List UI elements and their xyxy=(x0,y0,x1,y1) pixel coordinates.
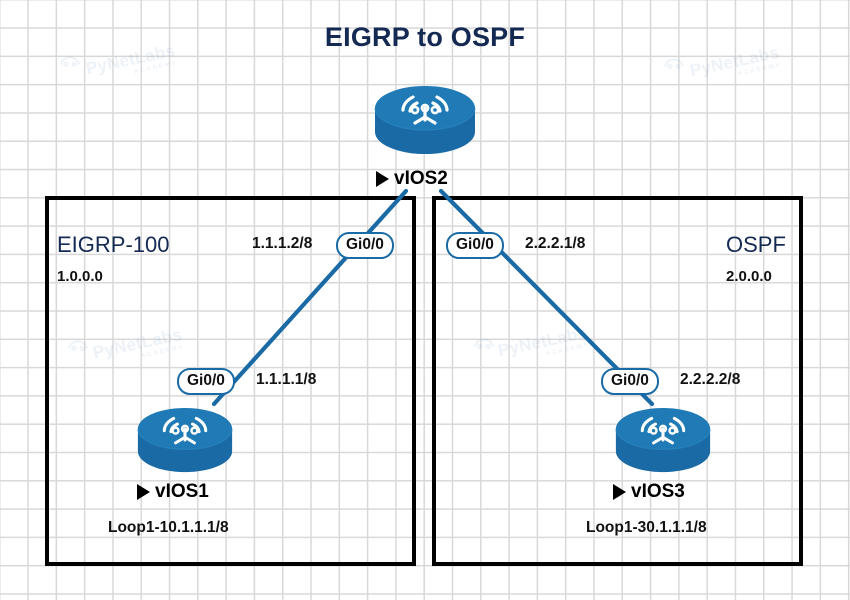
router-vios2[interactable] xyxy=(373,86,477,156)
eigrp-protocol-label: EIGRP-100 xyxy=(57,232,170,258)
router-icon xyxy=(373,86,477,156)
ospf-network-label: 2.0.0.0 xyxy=(726,268,772,285)
interface-pill-vios1[interactable]: Gi0/0 xyxy=(177,368,235,395)
interface-pill-vios2-left[interactable]: Gi0/0 xyxy=(336,232,394,259)
play-triangle-icon xyxy=(137,484,150,500)
loopback-label-vios3: Loop1-30.1.1.1/8 xyxy=(586,519,707,537)
ip-label-1-1-1-2: 1.1.1.2/8 xyxy=(252,235,312,253)
router-icon xyxy=(136,408,234,474)
interface-pill-vios2-right[interactable]: Gi0/0 xyxy=(446,232,504,259)
router-vios3[interactable] xyxy=(614,408,712,474)
ip-label-2-2-2-1: 2.2.2.1/8 xyxy=(525,235,585,253)
play-triangle-icon xyxy=(376,171,389,187)
ospf-protocol-label: OSPF xyxy=(726,232,786,258)
device-name: vIOS1 xyxy=(155,481,209,503)
ip-label-1-1-1-1: 1.1.1.1/8 xyxy=(256,371,316,389)
device-name: vIOS3 xyxy=(631,481,685,503)
device-label-vios3: vIOS3 xyxy=(613,481,685,503)
interface-pill-vios3[interactable]: Gi0/0 xyxy=(601,368,659,395)
device-label-vios2: vIOS2 xyxy=(376,168,448,190)
ip-label-2-2-2-2: 2.2.2.2/8 xyxy=(680,371,740,389)
loopback-label-vios1: Loop1-10.1.1.1/8 xyxy=(108,519,229,537)
eigrp-network-label: 1.0.0.0 xyxy=(57,268,103,285)
play-triangle-icon xyxy=(613,484,626,500)
router-vios1[interactable] xyxy=(136,408,234,474)
router-icon xyxy=(614,408,712,474)
device-name: vIOS2 xyxy=(394,168,448,190)
device-label-vios1: vIOS1 xyxy=(137,481,209,503)
